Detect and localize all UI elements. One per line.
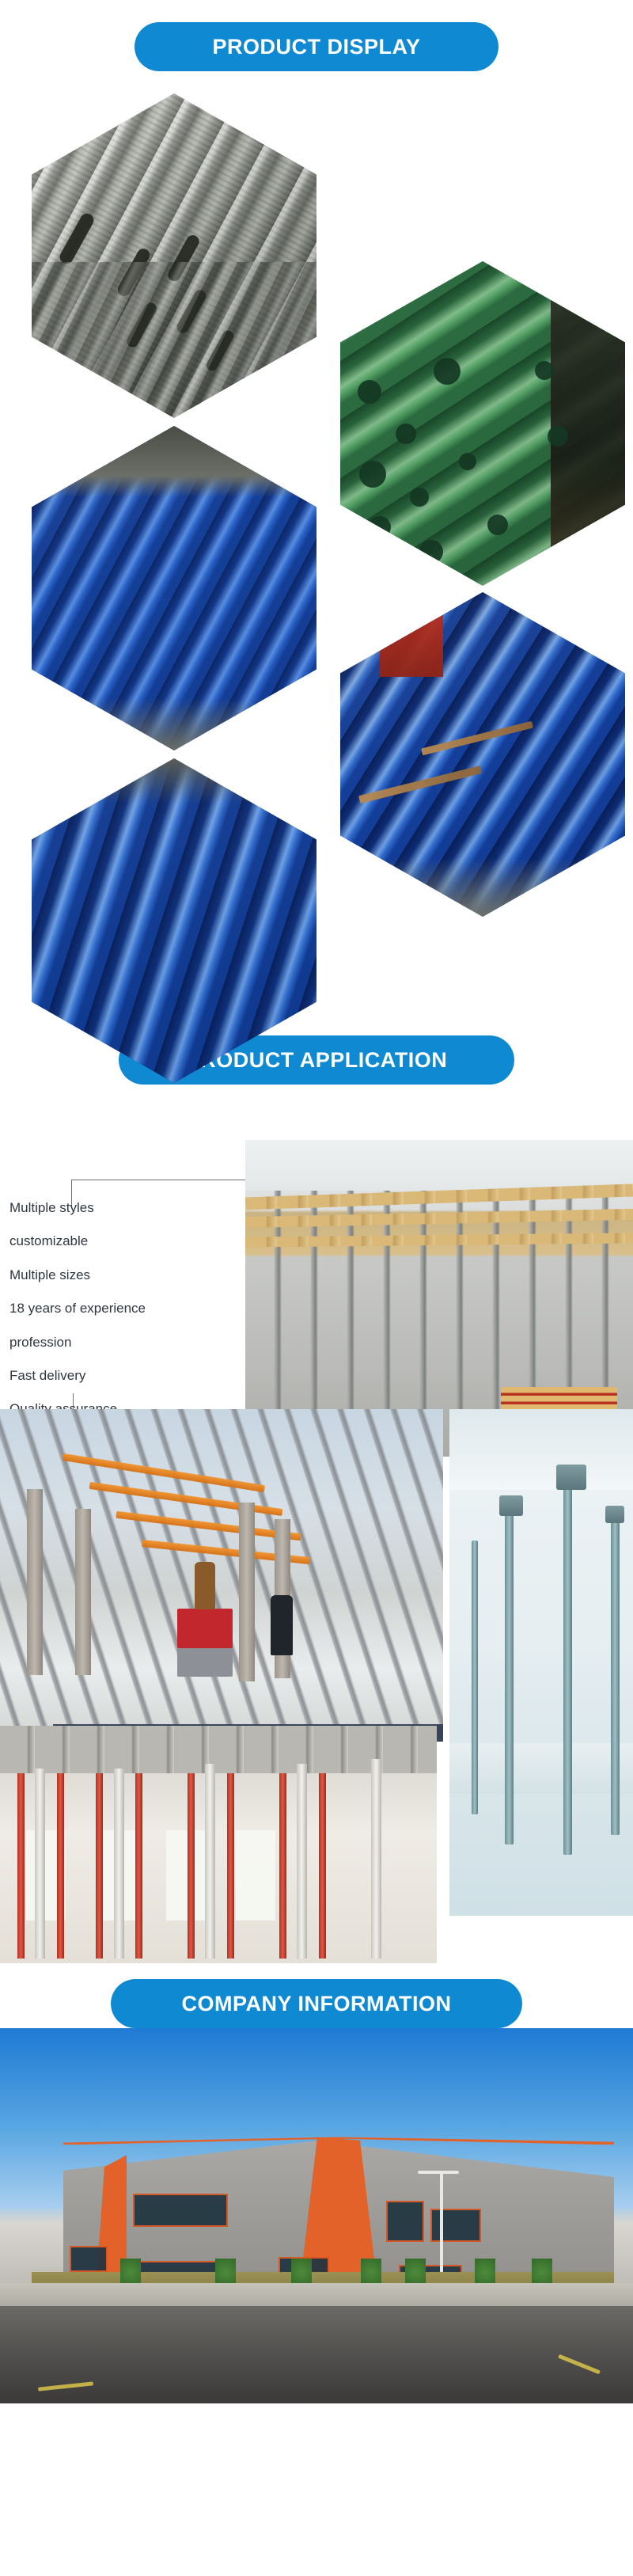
- feature-list: Multiple styles customizable Multiple si…: [9, 1200, 146, 1418]
- hex-photo-blue-props-warehouse[interactable]: [340, 592, 625, 917]
- product-display-banner-wrap: PRODUCT DISPLAY: [0, 0, 633, 71]
- app-photo-winter-site-orange-beams[interactable]: [0, 1409, 443, 1742]
- company-information-banner-wrap: COMPANY INFORMATION: [0, 1971, 633, 2028]
- feature-item: Fast delivery: [9, 1368, 146, 1384]
- feature-item: Multiple styles: [9, 1200, 146, 1216]
- product-display-hexagon-grid: [0, 85, 633, 1028]
- product-detail-page: PRODUCT DISPLAY: [0, 0, 633, 2403]
- photo-galvanized-steel-props: [32, 93, 316, 418]
- product-application-area: Multiple styles customizable Multiple si…: [0, 1085, 633, 1971]
- product-display-banner: PRODUCT DISPLAY: [135, 22, 498, 71]
- app-photo-red-props-interior[interactable]: [0, 1726, 437, 1963]
- photo-blue-bundled-props-strapped: [32, 426, 316, 750]
- photo-green-painted-props: [340, 261, 625, 586]
- company-information-area: [0, 2028, 633, 2403]
- photo-blue-props-warehouse: [340, 592, 625, 917]
- feature-item: Multiple sizes: [9, 1267, 146, 1283]
- feature-item: 18 years of experience: [9, 1301, 146, 1316]
- hex-photo-blue-bundled-props-strapped[interactable]: [32, 426, 316, 750]
- company-information-banner: COMPANY INFORMATION: [111, 1979, 522, 2028]
- hex-photo-green-painted-props[interactable]: [340, 261, 625, 586]
- hex-photo-galvanized-steel-props[interactable]: [32, 93, 316, 418]
- feature-item: profession: [9, 1335, 146, 1351]
- feature-item: customizable: [9, 1233, 146, 1249]
- company-factory-photo[interactable]: [0, 2028, 633, 2403]
- app-photo-white-corridor-props[interactable]: [449, 1409, 633, 1916]
